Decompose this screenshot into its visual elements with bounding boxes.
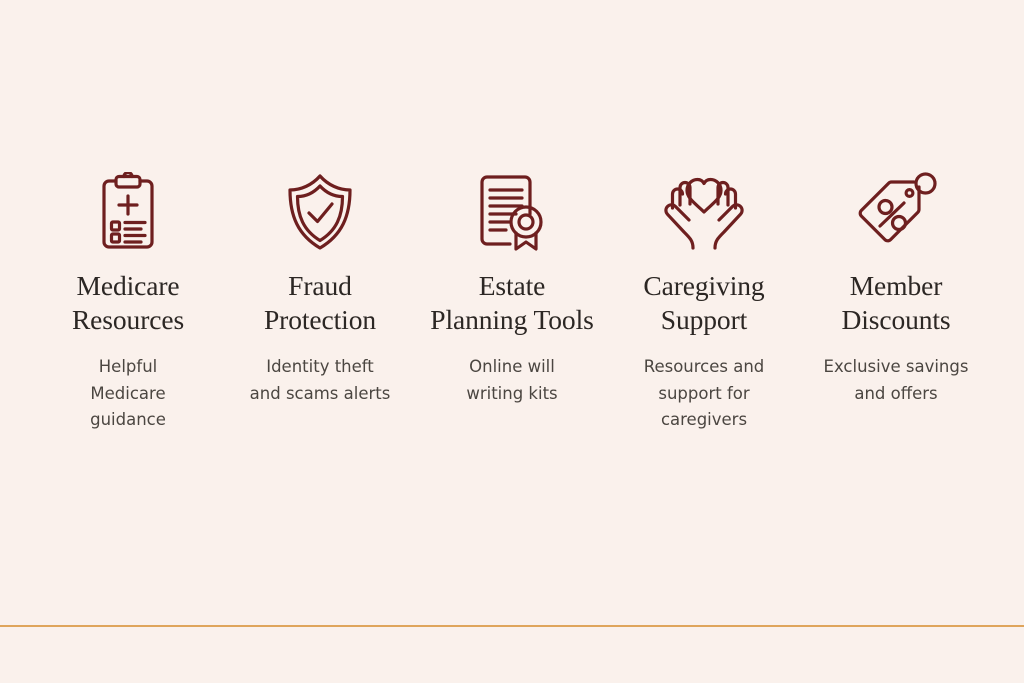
feature-description: Helpful Medicare guidance bbox=[90, 354, 166, 434]
feature-strip: Medicare Resources Helpful Medicare guid… bbox=[0, 0, 1024, 683]
clipboard-medical-icon bbox=[97, 172, 159, 252]
feature-card-medicare-resources[interactable]: Medicare Resources Helpful Medicare guid… bbox=[32, 172, 224, 434]
feature-title: Member Discounts bbox=[841, 269, 950, 337]
shield-check-icon bbox=[284, 172, 356, 252]
feature-card-caregiving-support[interactable]: Caregiving Support Resources and support… bbox=[608, 172, 800, 434]
feature-title: Medicare Resources bbox=[72, 269, 184, 337]
feature-description: Exclusive savings and offers bbox=[824, 354, 969, 407]
feature-description: Online will writing kits bbox=[466, 354, 557, 407]
feature-card-estate-planning-tools[interactable]: Estate Planning Tools Online will writin… bbox=[416, 172, 608, 407]
feature-title: Estate Planning Tools bbox=[430, 269, 593, 337]
hands-heart-icon bbox=[658, 172, 750, 252]
feature-description: Identity theft and scams alerts bbox=[250, 354, 391, 407]
price-tag-percent-icon bbox=[855, 172, 937, 252]
feature-title: Fraud Protection bbox=[264, 269, 376, 337]
feature-list: Medicare Resources Helpful Medicare guid… bbox=[0, 172, 1024, 434]
feature-title: Caregiving Support bbox=[643, 269, 764, 337]
certificate-document-icon bbox=[476, 172, 548, 252]
feature-description: Resources and support for caregivers bbox=[644, 354, 765, 434]
section-divider bbox=[0, 625, 1024, 627]
feature-card-member-discounts[interactable]: Member Discounts Exclusive savings and o… bbox=[800, 172, 992, 407]
feature-card-fraud-protection[interactable]: Fraud Protection Identity theft and scam… bbox=[224, 172, 416, 407]
